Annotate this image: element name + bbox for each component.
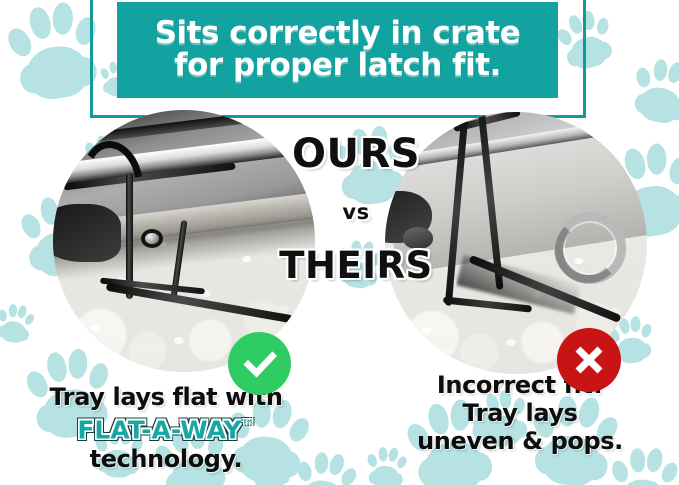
paw-toe (0, 309, 8, 323)
paw-pad-lobe-right (594, 40, 614, 61)
caption-ours: Tray lays flat with FLAT-A-WAY™ technolo… (8, 383, 324, 473)
paw-pad (341, 260, 376, 290)
paw-toe (596, 17, 610, 35)
paw-pad-lobe-left (18, 62, 49, 95)
paw-pad-lobe-right (666, 99, 679, 122)
paw-toe (18, 211, 45, 241)
paw-toe (666, 60, 679, 85)
paw-pad-lobe-left (28, 244, 53, 271)
crate-corner-dark-flat (53, 204, 121, 262)
paw-toe (351, 240, 361, 256)
paw-toe (52, 2, 73, 35)
paw-toe (369, 250, 385, 267)
headline-line-2: for proper latch fit. (174, 50, 501, 82)
paw-pad (23, 43, 92, 102)
paw-pad-lobe-left (341, 174, 365, 200)
headline-banner: Sits correctly in crate for proper latch… (117, 2, 558, 98)
paw-toe (23, 313, 36, 327)
paw-pad-lobe-right (580, 451, 609, 482)
paw-toe (653, 59, 668, 82)
paw-toe (330, 142, 356, 171)
paw-toe (26, 5, 54, 42)
paw-pad-lobe-left (417, 457, 446, 485)
paw-pad-lobe-right (390, 473, 403, 485)
paw-pad (619, 479, 667, 485)
paw-toe (8, 304, 17, 318)
red-x-circle-icon (557, 328, 621, 392)
brand-text: FLAT-A-WAY (77, 415, 241, 444)
paw-toe (667, 155, 679, 186)
latch-knob-icon (145, 233, 159, 244)
paw-toe (337, 247, 351, 264)
trademark-symbol: ™ (242, 418, 255, 433)
paw-pad-lobe-right (464, 451, 493, 483)
crate-wire-loop-shadow (555, 217, 621, 283)
paw-pad (371, 465, 400, 485)
paw-toe (635, 67, 652, 89)
paw-pad-lobe-right (662, 194, 679, 226)
paw-pad-lobe-right (363, 270, 379, 287)
paw-pad-lobe-left (253, 473, 267, 485)
paw-toe (647, 144, 667, 175)
paw-toe (327, 452, 347, 477)
paw-toe (4, 24, 36, 60)
paw-toe (659, 460, 679, 485)
product-comparison-graphic: Sits correctly in crate for proper latch… (0, 0, 679, 485)
photo-ours-content (53, 110, 315, 372)
paw-pad-lobe-right (17, 328, 30, 342)
paw-pad (300, 478, 346, 485)
photo-ours-flat-tray (53, 110, 315, 372)
paw-toe (16, 304, 28, 319)
paw-pad (0, 319, 28, 344)
caption-ours-line-3: technology. (8, 445, 324, 473)
caption-theirs-line-3: uneven & pops. (368, 427, 672, 455)
paw-toe (395, 455, 408, 470)
caption-theirs-line-1: Incorrect fit! (368, 371, 672, 399)
caption-theirs: Incorrect fit! Tray lays uneven & pops. (368, 371, 672, 455)
headline-line-1: Sits correctly in crate (155, 18, 521, 50)
brand-name-flat-a-way: FLAT-A-WAY™ (8, 411, 324, 445)
crate-knob-angled (403, 227, 433, 249)
green-check-circle-icon (228, 332, 291, 395)
paw-print-icon (0, 300, 37, 348)
paw-toe (366, 453, 378, 468)
paw-toe (350, 127, 372, 156)
paw-print-icon (333, 236, 386, 294)
paw-pad-lobe-left (338, 266, 354, 283)
paw-pad-lobe-left (368, 471, 381, 485)
paw-pad-lobe-left (0, 324, 10, 338)
paw-toe (338, 466, 359, 485)
paw-toe (609, 459, 630, 485)
caption-theirs-line-2: Tray lays (368, 399, 672, 427)
paw-toe (361, 240, 376, 259)
